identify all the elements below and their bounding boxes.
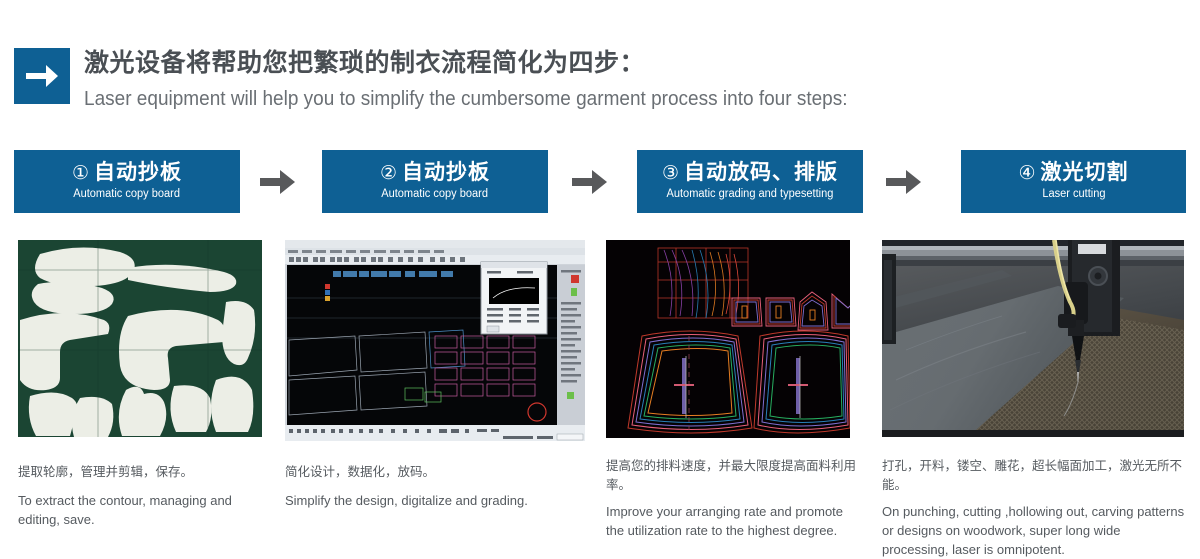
step-box-2[interactable]: ②自动抄板 Automatic copy board (322, 150, 548, 213)
step-4-number: ④ (1018, 163, 1036, 184)
step-3-label-cn: ③自动放码、排版 (662, 160, 838, 186)
caption-3-cn: 提高您的排料速度，并最大限度提高面料利用率。 (606, 457, 856, 495)
photo-laser-cutting-machine (882, 240, 1184, 437)
step-2-label-en: Automatic copy board (382, 187, 489, 202)
caption-4-en: On punching, cutting ,hollowing out, car… (882, 502, 1187, 559)
step-box-3[interactable]: ③自动放码、排版 Automatic grading and typesetti… (637, 150, 863, 213)
caption-2-cn: 简化设计，数据化，放码。 (285, 463, 575, 482)
photo-cad-software-screenshot (285, 240, 585, 441)
page-subtitle: Laser equipment will help you to simplif… (84, 84, 848, 114)
step-1-label-en: Automatic copy board (74, 187, 181, 202)
step-3-label-en: Automatic grading and typesetting (667, 187, 834, 202)
step-arrow-1-icon (258, 164, 298, 200)
step-4-label-en: Laser cutting (1042, 187, 1105, 202)
step-box-1[interactable]: ①自动抄板 Automatic copy board (14, 150, 240, 213)
step-1-number: ① (72, 163, 90, 184)
page-title: 激光设备将帮助您把繁琐的制衣流程简化为四步： (84, 46, 888, 80)
caption-block-1: 提取轮廓，管理并剪辑，保存。 To extract the contour, m… (18, 463, 268, 529)
caption-block-4: 打孔，开料，镂空、雕花，超长幅面加工，激光无所不能。 On punching, … (882, 457, 1187, 559)
step-4-label-cn: ④激光切割 (1018, 160, 1128, 186)
step-1-label-cn: ①自动抄板 (72, 160, 182, 186)
step-2-label-cn: ②自动抄板 (380, 160, 490, 186)
caption-3-en: Improve your arranging rate and promote … (606, 502, 856, 540)
step-arrow-3-icon (884, 164, 924, 200)
step-arrow-2-icon (570, 164, 610, 200)
photo-graded-pattern-outlines (606, 240, 850, 438)
page-header: 激光设备将帮助您把繁琐的制衣流程简化为四步： Laser equipment w… (14, 46, 1184, 132)
step-3-number: ③ (662, 163, 680, 184)
process-step-bar: ①自动抄板 Automatic copy board ②自动抄板 Automat… (0, 150, 1200, 214)
caption-1-en: To extract the contour, managing and edi… (18, 491, 268, 529)
caption-1-cn: 提取轮廓，管理并剪辑，保存。 (18, 463, 268, 482)
caption-block-3: 提高您的排料速度，并最大限度提高面料利用率。 Improve your arra… (606, 457, 856, 540)
caption-block-2: 简化设计，数据化，放码。 Simplify the design, digita… (285, 463, 575, 510)
header-text-block: 激光设备将帮助您把繁琐的制衣流程简化为四步： Laser equipment w… (84, 46, 888, 114)
photo-fabric-pattern-pieces (18, 240, 262, 437)
caption-2-en: Simplify the design, digitalize and grad… (285, 491, 575, 510)
step-2-number: ② (380, 163, 398, 184)
caption-4-cn: 打孔，开料，镂空、雕花，超长幅面加工，激光无所不能。 (882, 457, 1187, 495)
step-box-4[interactable]: ④激光切割 Laser cutting (961, 150, 1186, 213)
arrow-right-icon (14, 48, 70, 104)
